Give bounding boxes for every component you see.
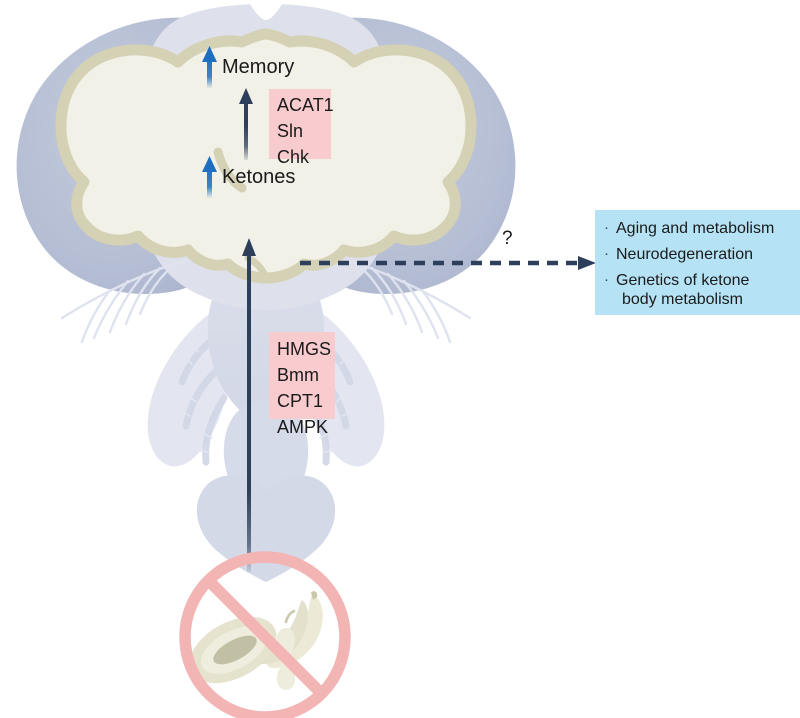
open-question-text: Neurodegeneration	[616, 246, 753, 263]
list-item: · Genetics of ketone body metabolism	[603, 272, 794, 310]
gene-box-body: HMGS Bmm CPT1 AMPK	[269, 332, 335, 419]
figure-canvas	[0, 0, 800, 718]
list-item: · Neurodegeneration	[603, 246, 794, 265]
no-fruit-prohibition-symbol	[178, 557, 345, 717]
gene-ampk: AMPK	[277, 415, 335, 441]
open-questions-list: · Aging and metabolism · Neurodegenerati…	[603, 220, 794, 310]
bullet-icon: ·	[604, 245, 609, 263]
memory-label: Memory	[222, 57, 294, 77]
apple-stem	[286, 611, 294, 622]
open-question-text: Genetics of ketone	[616, 272, 749, 289]
gene-bmm: Bmm	[277, 363, 335, 389]
open-questions-box: · Aging and metabolism · Neurodegenerati…	[595, 210, 800, 315]
bullet-icon: ·	[604, 219, 609, 237]
gene-chk: Chk	[277, 145, 331, 171]
drosophila-ketone-metabolism-figure: Memory Ketones ACAT1 Sln Chk HMGS Bmm CP…	[0, 0, 800, 718]
question-mark-label: ?	[502, 228, 513, 250]
list-item: · Aging and metabolism	[603, 220, 794, 239]
open-question-text: Aging and metabolism	[616, 220, 774, 237]
gene-box-brain: ACAT1 Sln Chk	[269, 89, 331, 159]
gene-acat1: ACAT1	[277, 93, 331, 119]
bullet-icon: ·	[604, 271, 609, 289]
open-question-text-cont: body metabolism	[616, 291, 794, 310]
gene-hmgs: HMGS	[277, 337, 335, 363]
gene-cpt1: CPT1	[277, 389, 335, 415]
gene-sln: Sln	[277, 119, 331, 145]
